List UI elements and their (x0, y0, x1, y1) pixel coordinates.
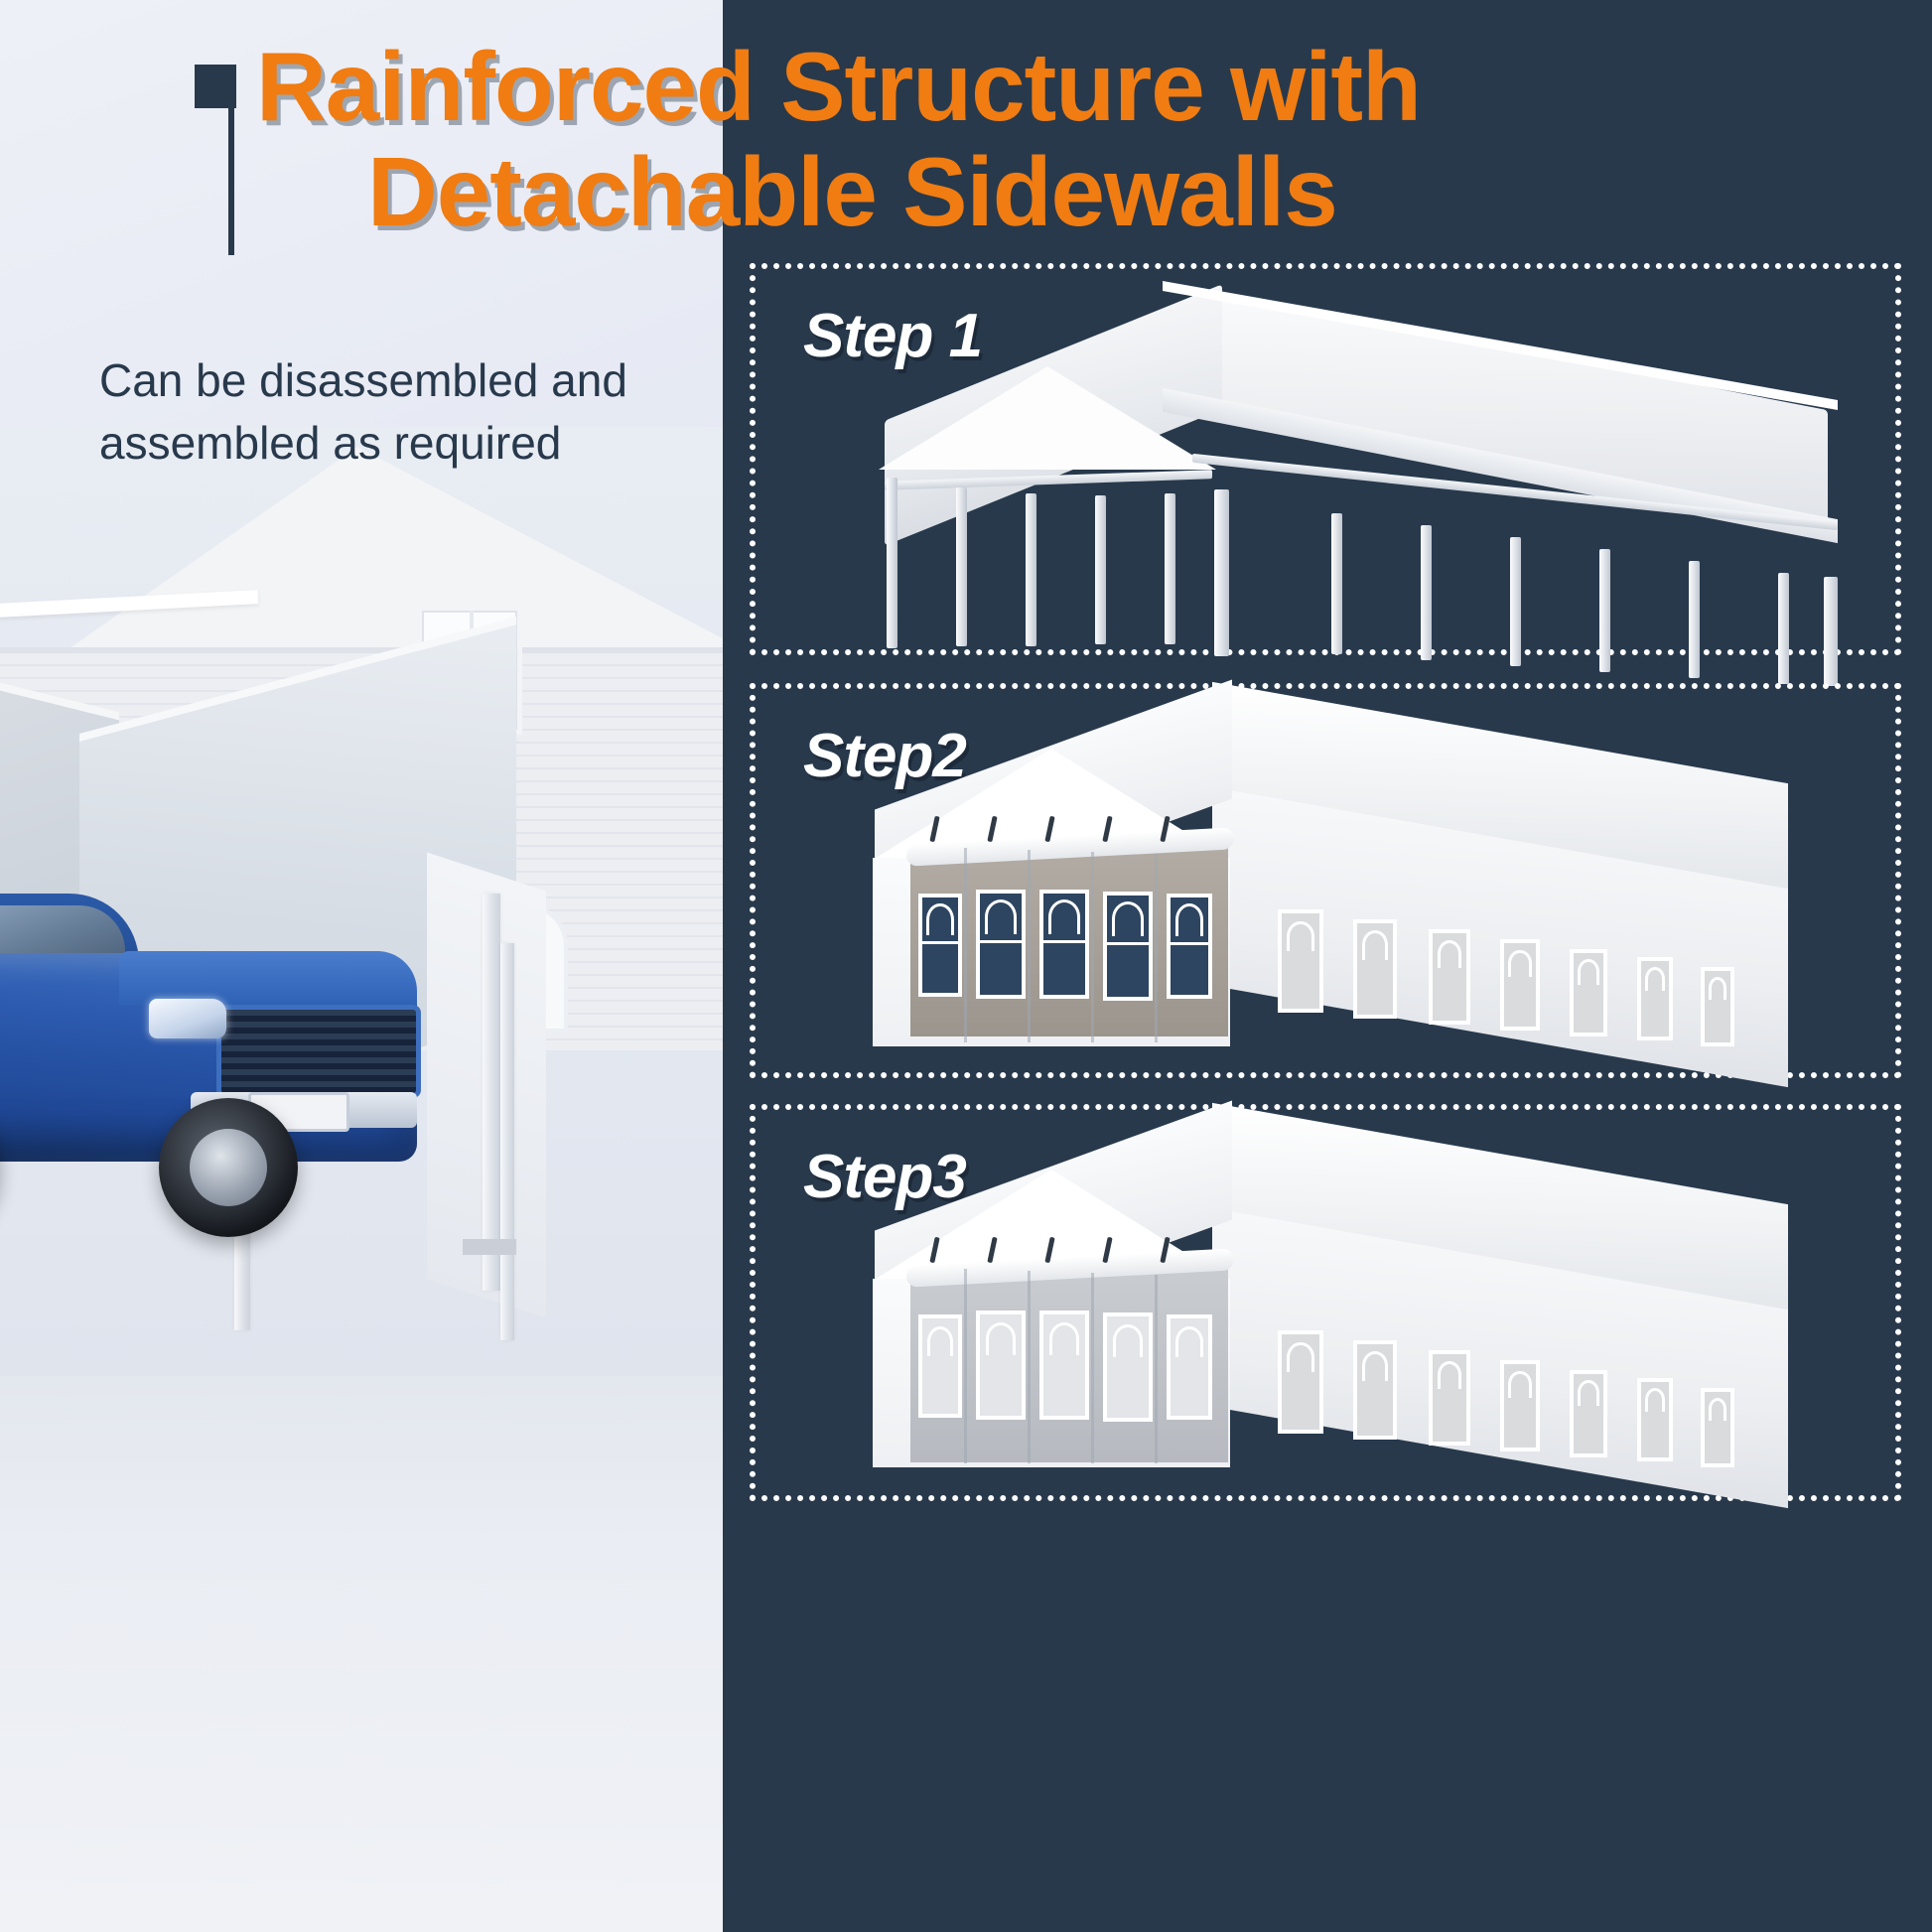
tent-leg (1214, 489, 1229, 656)
tent-window (1103, 1312, 1153, 1422)
ground-surface (0, 1376, 723, 1932)
tent-window (1637, 1378, 1673, 1461)
tent-leg (1824, 577, 1838, 686)
left-panel: Can be disassembled and assembled as req… (0, 0, 723, 1932)
tent-leg (1165, 493, 1175, 644)
tent-leg (887, 478, 897, 648)
tent-wall-seam (964, 1269, 967, 1463)
tent-window (1353, 919, 1397, 1019)
product-photo (0, 427, 723, 1932)
infographic-page: Can be disassembled and assembled as req… (0, 0, 1932, 1932)
tent-illustration-enclosed (815, 1140, 1858, 1497)
truck-hood (119, 951, 417, 1005)
tent-wall-seam (964, 848, 967, 1042)
tent-window (1637, 957, 1673, 1040)
bracket-square-icon (195, 65, 236, 108)
tent-wall-seam (1155, 1275, 1158, 1463)
tent-window (1039, 1311, 1089, 1420)
tent-window (976, 890, 1026, 999)
tent-window (918, 894, 962, 997)
tent-window (1278, 909, 1323, 1013)
tent-window (1570, 949, 1607, 1036)
truck-grille (216, 1005, 421, 1098)
tent-window (1103, 892, 1153, 1001)
tent-window (1278, 1330, 1323, 1434)
carport-post-foot (463, 1239, 516, 1255)
tent-illustration-sidewalls (815, 719, 1858, 1076)
bracket-vertical-line (228, 104, 234, 255)
carport-post-2 (483, 894, 500, 1291)
tent-illustration-frame (865, 339, 1867, 646)
truck-wheel-front (159, 1098, 298, 1237)
carport-post-3 (500, 943, 514, 1340)
tent-leg (1510, 537, 1521, 666)
house-roof (60, 447, 723, 655)
step-card-3: Step3 (750, 1104, 1901, 1501)
tent-window (1701, 1388, 1734, 1467)
tent-leg (1331, 513, 1342, 654)
tent-leg (956, 487, 967, 646)
tent-window (1039, 890, 1089, 999)
tent-window (1167, 894, 1212, 999)
tent-leg (1095, 495, 1106, 644)
tent-leg (1599, 549, 1610, 672)
tent-window (1500, 1360, 1540, 1451)
tent-leg (1778, 573, 1789, 684)
step-card-1: Step 1 (750, 263, 1901, 655)
tent-wall-seam (1028, 1271, 1031, 1463)
tent-window (1429, 1350, 1470, 1446)
tent-leg (1026, 493, 1036, 646)
right-panel: Step 1 (723, 0, 1932, 1932)
tent-window (1429, 929, 1470, 1025)
tent-wall-seam (1091, 1273, 1094, 1463)
truck-wheel-rim (190, 1129, 267, 1206)
tent-leg (1421, 525, 1432, 660)
tent-window (1353, 1340, 1397, 1440)
tent-window (1701, 967, 1734, 1046)
tent-window (1500, 939, 1540, 1031)
tent-wall-seam (1155, 854, 1158, 1042)
step-card-2: Step2 (750, 683, 1901, 1078)
tent-gable (879, 366, 1216, 470)
blue-truck (0, 894, 437, 1241)
tent-window (976, 1311, 1026, 1420)
subtitle-text: Can be disassembled and assembled as req… (99, 349, 655, 476)
tent-wall-seam (1091, 852, 1094, 1042)
tent-wall-seam (1028, 850, 1031, 1042)
tent-window (1167, 1314, 1212, 1420)
tent-window (1570, 1370, 1607, 1457)
tent-leg (1689, 561, 1700, 678)
tent-window (918, 1314, 962, 1418)
truck-headlight (149, 999, 226, 1038)
